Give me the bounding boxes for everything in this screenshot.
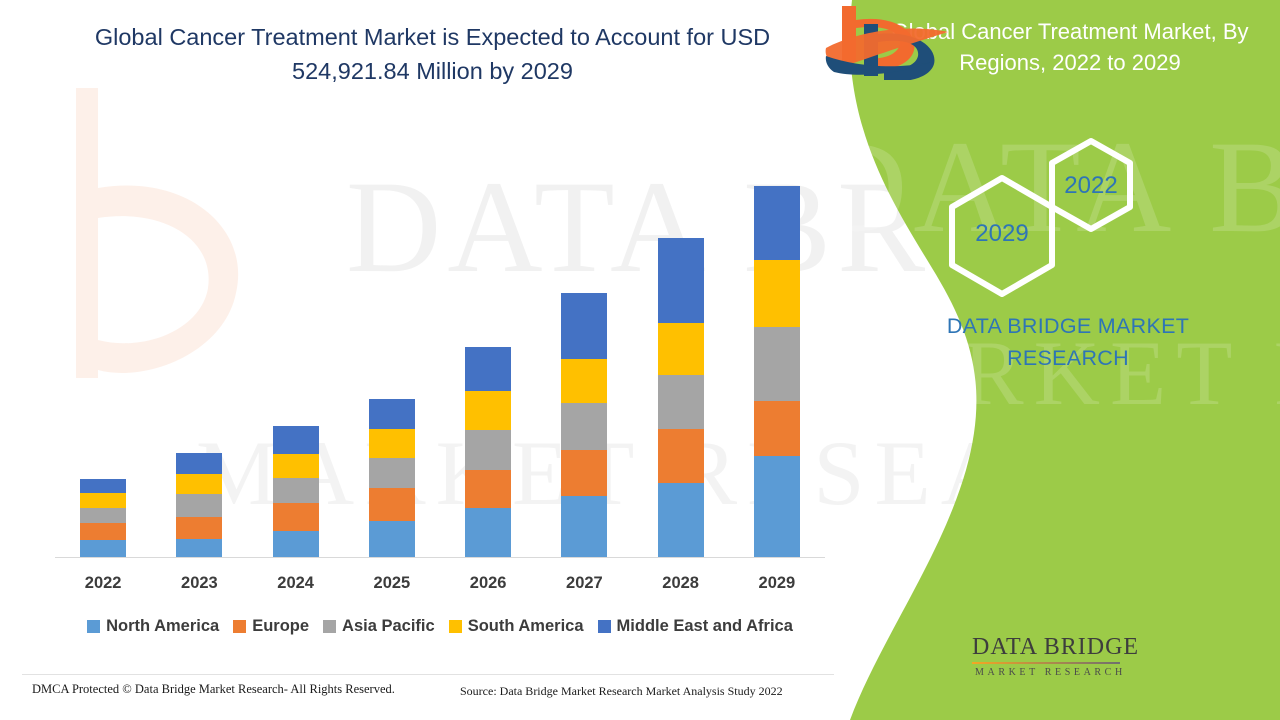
bar-segment xyxy=(369,488,415,522)
dbmr-logo-rule xyxy=(972,662,1120,664)
bar-segment xyxy=(658,429,704,483)
bar-column xyxy=(248,160,344,557)
x-tick-label: 2029 xyxy=(729,574,825,593)
bar-segment xyxy=(369,521,415,557)
legend-item[interactable]: Middle East and Africa xyxy=(598,617,793,636)
bar-segment xyxy=(80,508,126,523)
bar-segment xyxy=(465,508,511,557)
bar-segment xyxy=(273,454,319,478)
stacked-bar xyxy=(658,238,704,557)
bar-segment xyxy=(176,539,222,557)
bar-segment xyxy=(658,483,704,557)
hexagon-label-2022: 2022 xyxy=(1051,172,1131,200)
bar-segment xyxy=(465,430,511,470)
bar-column xyxy=(151,160,247,557)
legend-label: South America xyxy=(468,617,584,636)
bar-segment xyxy=(369,429,415,458)
bar-segment xyxy=(754,327,800,401)
bar-segment xyxy=(658,238,704,322)
stacked-bar xyxy=(561,293,607,557)
legend-item[interactable]: Europe xyxy=(233,617,309,636)
bar-segment xyxy=(754,401,800,456)
bar-segment xyxy=(176,453,222,474)
footer-divider xyxy=(22,674,834,675)
bar-segment xyxy=(80,493,126,509)
bar-segment xyxy=(561,293,607,359)
legend-label: Europe xyxy=(252,617,309,636)
legend-label: North America xyxy=(106,617,219,636)
x-tick-label: 2028 xyxy=(633,574,729,593)
bar-segment xyxy=(658,323,704,376)
legend-swatch-icon xyxy=(598,620,611,633)
bar-segment xyxy=(273,503,319,531)
legend-label: Middle East and Africa xyxy=(617,617,793,636)
legend-item[interactable]: North America xyxy=(87,617,219,636)
legend-swatch-icon xyxy=(87,620,100,633)
legend-label: Asia Pacific xyxy=(342,617,435,636)
hexagon-shapes xyxy=(820,130,1280,310)
bar-column xyxy=(536,160,632,557)
bar-chart-plot xyxy=(55,160,825,557)
stacked-bar xyxy=(80,479,126,557)
legend-item[interactable]: Asia Pacific xyxy=(323,617,435,636)
bar-segment xyxy=(273,531,319,557)
x-tick-label: 2027 xyxy=(536,574,632,593)
bar-column xyxy=(344,160,440,557)
legend-item[interactable]: South America xyxy=(449,617,584,636)
bar-segment xyxy=(561,403,607,450)
panel-brand-line2: RESEARCH xyxy=(1007,346,1129,370)
panel-brand-line1: DATA BRIDGE MARKET xyxy=(947,314,1189,338)
x-axis-line xyxy=(55,557,825,558)
stacked-bar xyxy=(754,186,800,557)
hexagon-label-2029: 2029 xyxy=(962,220,1042,248)
panel-brand: DATA BRIDGE MARKET RESEARCH xyxy=(820,310,1280,374)
dbmr-logo-word: DATA BRIDGE xyxy=(972,634,1139,661)
x-axis-tick-labels: 20222023202420252026202720282029 xyxy=(55,574,825,593)
bar-segment xyxy=(369,399,415,429)
footer-copyright: DMCA Protected © Data Bridge Market Rese… xyxy=(32,682,395,697)
bar-segment xyxy=(80,523,126,540)
bar-segment xyxy=(754,186,800,260)
bar-column xyxy=(55,160,151,557)
x-tick-label: 2026 xyxy=(440,574,536,593)
bar-segment xyxy=(273,478,319,504)
bar-segment xyxy=(561,496,607,557)
bar-column xyxy=(729,160,825,557)
bar-column xyxy=(440,160,536,557)
bar-segment xyxy=(465,470,511,509)
legend-swatch-icon xyxy=(233,620,246,633)
legend-swatch-icon xyxy=(323,620,336,633)
bar-segment xyxy=(561,450,607,497)
hexagon-group: 2022 2029 xyxy=(820,130,1280,310)
bar-segment xyxy=(754,260,800,326)
x-tick-label: 2025 xyxy=(344,574,440,593)
bar-segment xyxy=(176,494,222,518)
bar-segment xyxy=(80,479,126,493)
x-tick-label: 2024 xyxy=(248,574,344,593)
bar-segment xyxy=(465,347,511,392)
bar-column xyxy=(633,160,729,557)
bar-segment xyxy=(369,458,415,488)
stacked-bar xyxy=(273,426,319,557)
stacked-bar xyxy=(369,399,415,557)
bar-segment xyxy=(465,391,511,430)
bar-segment xyxy=(176,517,222,539)
legend-swatch-icon xyxy=(449,620,462,633)
chart-title: Global Cancer Treatment Market is Expect… xyxy=(60,20,805,88)
x-tick-label: 2023 xyxy=(151,574,247,593)
dbmr-logo-mark xyxy=(820,0,1240,80)
bar-segment xyxy=(273,426,319,454)
footer-source: Source: Data Bridge Market Research Mark… xyxy=(460,684,783,699)
green-side-panel: DATA BRIDGE MARKET RESEARCH Global Cance… xyxy=(820,0,1280,720)
bar-segment xyxy=(176,474,222,494)
bar-segment xyxy=(754,456,800,557)
chart-legend: North AmericaEuropeAsia PacificSouth Ame… xyxy=(45,617,835,636)
x-tick-label: 2022 xyxy=(55,574,151,593)
bar-segment xyxy=(80,540,126,557)
infographic-root: DATA BRIDGE MARKET RESEARCH Global Cance… xyxy=(0,0,1280,720)
bar-segment xyxy=(658,375,704,429)
dbmr-logo-subtitle: MARKET RESEARCH xyxy=(975,667,1126,678)
bar-segment xyxy=(561,359,607,404)
stacked-bar xyxy=(465,347,511,557)
stacked-bar xyxy=(176,453,222,557)
